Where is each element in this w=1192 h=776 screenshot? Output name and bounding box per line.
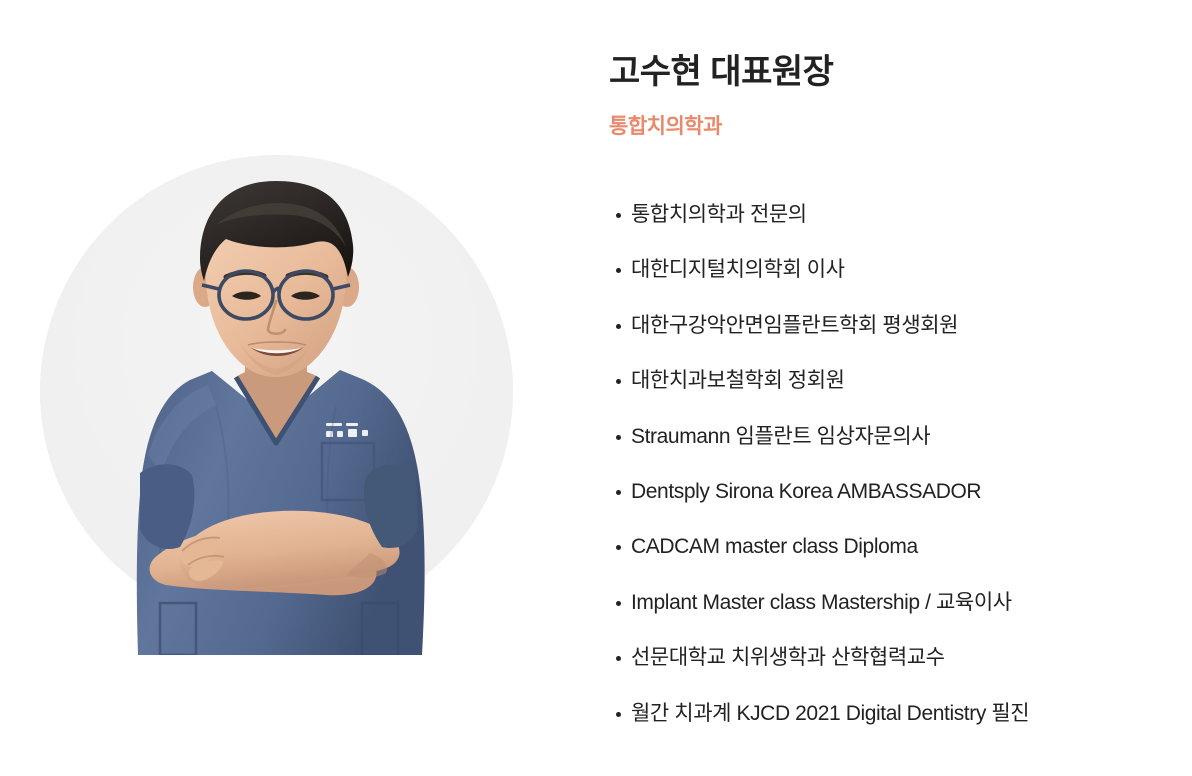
portrait-circle-backdrop xyxy=(40,155,513,628)
credential-text: 대한치과보철학회 정회원 xyxy=(631,369,845,392)
doctor-department: 통합치의학과 xyxy=(609,110,722,140)
credential-text: CADCAM master class Diploma xyxy=(631,535,918,558)
doctor-profile-page: 고수현 대표원장 통합치의학과 통합치의학과 전문의 대한디지털치의학회 이사 … xyxy=(0,0,1192,776)
bullet-icon xyxy=(616,213,621,218)
doctor-info-area: 고수현 대표원장 통합치의학과 통합치의학과 전문의 대한디지털치의학회 이사 … xyxy=(609,0,1169,776)
credential-text: 대한구강악안면임플란트학회 평생회원 xyxy=(631,314,958,337)
list-item: 대한구강악안면임플란트학회 평생회원 xyxy=(611,311,1171,366)
bullet-icon xyxy=(616,656,621,661)
list-item: Dentsply Sirona Korea AMBASSADOR xyxy=(611,477,1171,532)
bullet-icon xyxy=(616,601,621,606)
credential-text: Dentsply Sirona Korea AMBASSADOR xyxy=(631,480,981,503)
credential-text: 대한디지털치의학회 이사 xyxy=(631,258,845,281)
list-item: 통합치의학과 전문의 xyxy=(611,200,1171,255)
bullet-icon xyxy=(616,545,621,550)
credential-text: 월간 치과계 KJCD 2021 Digital Dentistry 필진 xyxy=(631,702,1029,725)
list-item: Implant Master class Mastership / 교육이사 xyxy=(611,588,1171,643)
list-item: 선문대학교 치위생학과 산학협력교수 xyxy=(611,643,1171,698)
doctor-name: 고수현 대표원장 xyxy=(609,44,833,93)
credential-text: Implant Master class Mastership / 교육이사 xyxy=(631,591,1012,614)
credential-text: 선문대학교 치위생학과 산학협력교수 xyxy=(631,646,945,669)
list-item: Straumann 임플란트 임상자문의사 xyxy=(611,422,1171,477)
bullet-icon xyxy=(616,379,621,384)
credential-text: Straumann 임플란트 임상자문의사 xyxy=(631,425,930,448)
credential-list: 통합치의학과 전문의 대한디지털치의학회 이사 대한구강악안면임플란트학회 평생… xyxy=(611,200,1171,754)
doctor-portrait-area xyxy=(40,155,513,628)
list-item: 월간 치과계 KJCD 2021 Digital Dentistry 필진 xyxy=(611,699,1171,754)
bullet-icon xyxy=(616,435,621,440)
list-item: 대한디지털치의학회 이사 xyxy=(611,255,1171,310)
bullet-icon xyxy=(616,712,621,717)
credential-text: 통합치의학과 전문의 xyxy=(631,203,807,226)
bullet-icon xyxy=(616,490,621,495)
list-item: CADCAM master class Diploma xyxy=(611,532,1171,587)
bullet-icon xyxy=(616,324,621,329)
bullet-icon xyxy=(616,268,621,273)
list-item: 대한치과보철학회 정회원 xyxy=(611,366,1171,421)
